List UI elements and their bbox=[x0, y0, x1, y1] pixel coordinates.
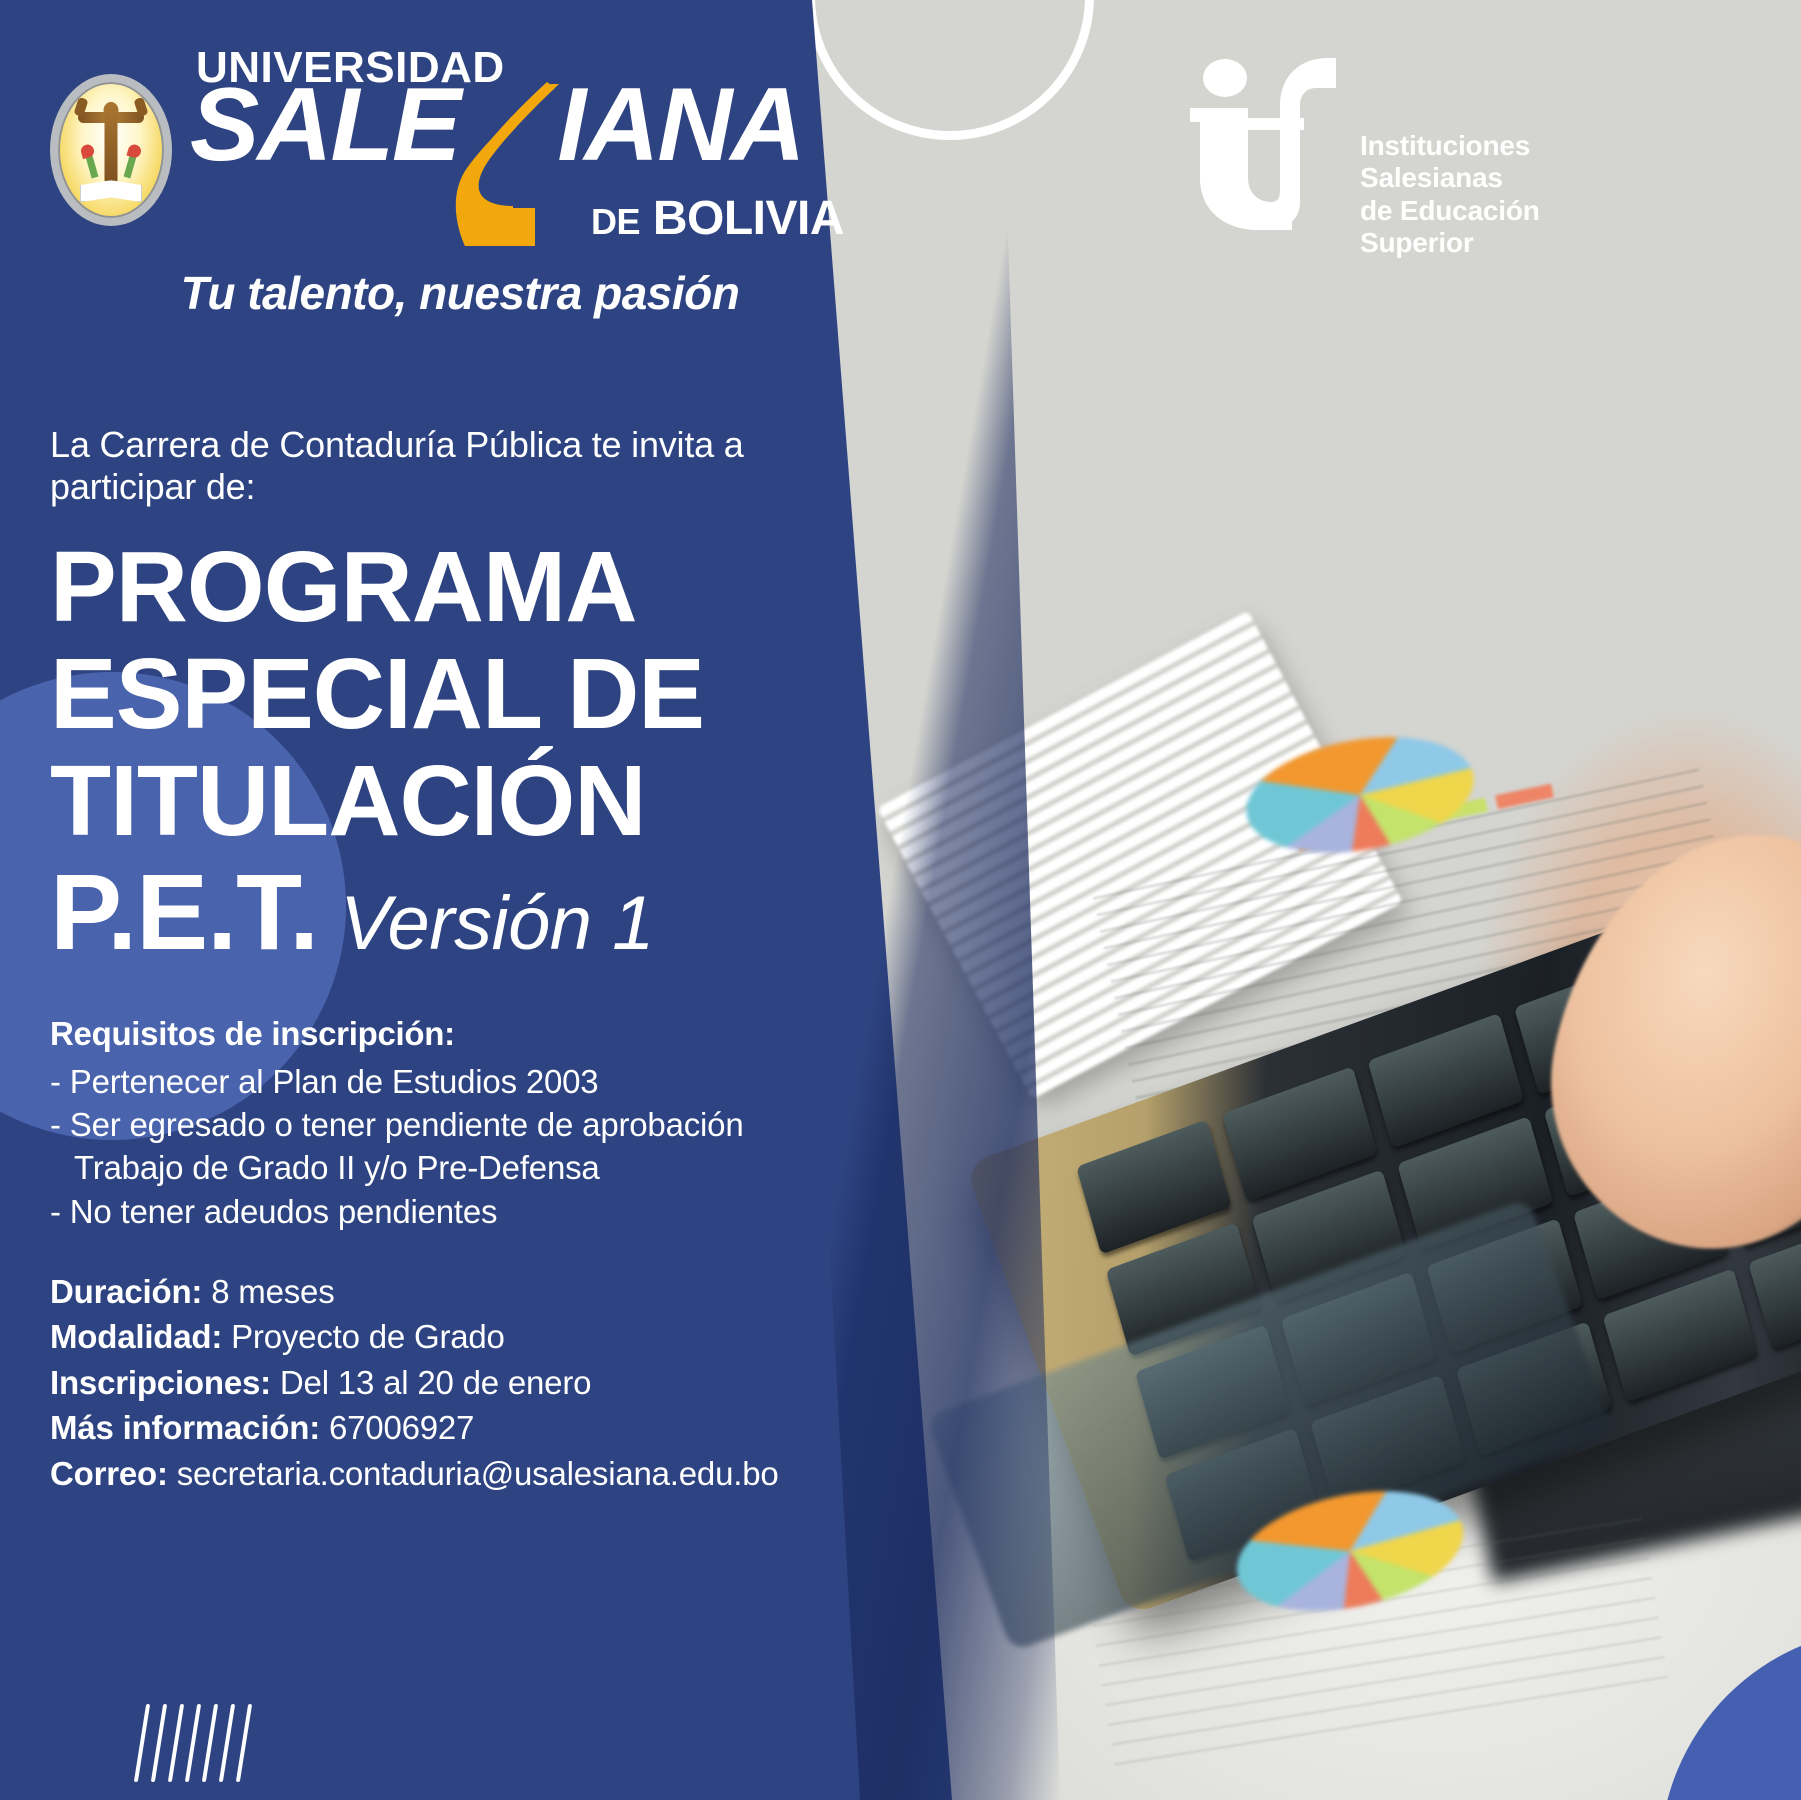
requirement-item: - No tener adeudos pendientes bbox=[50, 1190, 844, 1233]
detail-duracion: Duración: 8 meses bbox=[50, 1269, 844, 1315]
detail-label: Más información: bbox=[50, 1409, 320, 1446]
detail-value: Del 13 al 20 de enero bbox=[280, 1364, 591, 1401]
detail-label: Correo: bbox=[50, 1455, 168, 1492]
wordmark-iana: IANA bbox=[557, 84, 803, 167]
headline-acronym: P.E.T. bbox=[50, 855, 318, 968]
ius-text-line-4: Superior bbox=[1360, 227, 1540, 259]
detail-value: 8 meses bbox=[211, 1273, 334, 1310]
requirement-item-continuation: Trabajo de Grado II y/o Pre-Defensa bbox=[50, 1146, 844, 1189]
headline-line-1: PROGRAMA bbox=[50, 534, 844, 641]
university-logo: UNIVERSIDAD SALE IANA DE BOLIVIA bbox=[36, 0, 844, 252]
ius-text-line-1: Instituciones bbox=[1360, 130, 1540, 162]
detail-label: Duración: bbox=[50, 1273, 202, 1310]
detail-label: Modalidad: bbox=[50, 1318, 222, 1355]
poster-root: UNIVERSIDAD SALE IANA DE BOLIVIA bbox=[0, 0, 1801, 1800]
content-column: UNIVERSIDAD SALE IANA DE BOLIVIA bbox=[0, 0, 880, 1800]
wordmark-sale: SALE bbox=[190, 84, 459, 167]
university-tagline: Tu talento, nuestra pasión bbox=[76, 266, 844, 320]
headline-block: PROGRAMA ESPECIAL DE TITULACIÓN P.E.T. V… bbox=[50, 534, 844, 968]
headline-line-2: ESPECIAL DE bbox=[50, 641, 844, 748]
requirements-title: Requisitos de inscripción: bbox=[50, 1015, 844, 1053]
university-wordmark: UNIVERSIDAD SALE IANA DE BOLIVIA bbox=[190, 48, 844, 252]
headline-version: Versión 1 bbox=[340, 880, 654, 967]
headline-line-3: TITULACIÓN bbox=[50, 748, 844, 855]
detail-correo: Correo: secretaria.contaduria@usalesiana… bbox=[50, 1451, 844, 1497]
ius-text-line-3: de Educación bbox=[1360, 195, 1540, 227]
detail-value-email[interactable]: secretaria.contaduria@usalesiana.edu.bo bbox=[177, 1455, 779, 1492]
detail-inscripciones: Inscripciones: Del 13 al 20 de enero bbox=[50, 1360, 844, 1406]
requirement-item: - Pertenecer al Plan de Estudios 2003 bbox=[50, 1060, 844, 1103]
slash-decoration bbox=[140, 1704, 246, 1782]
salesian-crest-icon bbox=[50, 74, 172, 226]
ius-monogram-icon bbox=[1188, 52, 1338, 232]
detail-value: Proyecto de Grado bbox=[231, 1318, 505, 1355]
details-block: Duración: 8 meses Modalidad: Proyecto de… bbox=[50, 1269, 844, 1497]
ius-logo-text: Instituciones Salesianas de Educación Su… bbox=[1360, 130, 1540, 260]
wordmark-s-swoosh-icon bbox=[451, 80, 569, 252]
detail-label: Inscripciones: bbox=[50, 1364, 271, 1401]
detail-mas-informacion: Más información: 67006927 bbox=[50, 1405, 844, 1451]
detail-modalidad: Modalidad: Proyecto de Grado bbox=[50, 1314, 844, 1360]
detail-value: 67006927 bbox=[329, 1409, 474, 1446]
intro-text: La Carrera de Contaduría Pública te invi… bbox=[50, 424, 844, 508]
requirement-item: - Ser egresado o tener pendiente de apro… bbox=[50, 1103, 844, 1146]
requirements-block: Requisitos de inscripción: - Pertenecer … bbox=[50, 1015, 844, 1233]
ius-logo: Instituciones Salesianas de Educación Su… bbox=[1188, 52, 1540, 260]
ius-text-line-2: Salesianas bbox=[1360, 162, 1540, 194]
wordmark-de-bolivia: DE BOLIVIA bbox=[591, 200, 844, 238]
